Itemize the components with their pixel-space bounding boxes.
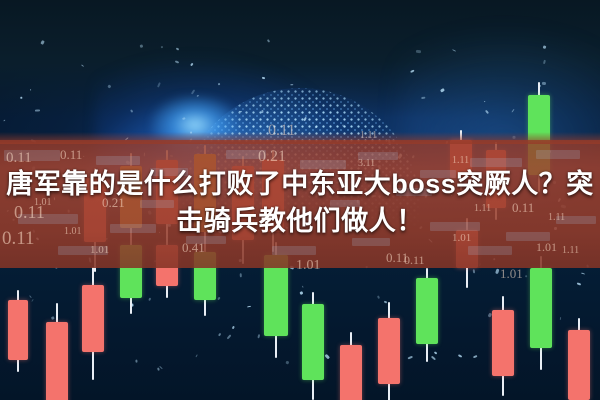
particle bbox=[290, 84, 293, 85]
ticker-bar bbox=[96, 156, 140, 165]
candlestick-body bbox=[378, 318, 400, 384]
candlestick bbox=[302, 292, 324, 400]
particle bbox=[135, 360, 137, 363]
ticker-bar bbox=[358, 152, 398, 160]
candlestick bbox=[416, 268, 438, 362]
particle bbox=[239, 110, 242, 112]
candlestick bbox=[492, 296, 514, 396]
particle bbox=[35, 109, 40, 111]
candlestick-body bbox=[568, 330, 590, 400]
particle bbox=[257, 334, 260, 338]
headline-line-2: 击骑兵教他们做人！ bbox=[0, 203, 600, 240]
particle bbox=[559, 317, 560, 320]
candlestick-body bbox=[416, 278, 438, 344]
ticker-bar bbox=[536, 150, 580, 159]
candlestick bbox=[46, 303, 68, 400]
candlestick-body bbox=[8, 300, 28, 360]
ticker-bar bbox=[4, 150, 60, 161]
candlestick-body bbox=[302, 304, 324, 380]
particle bbox=[240, 273, 242, 277]
candlestick-body bbox=[492, 310, 514, 376]
candlestick-body bbox=[46, 322, 68, 400]
candlestick-body bbox=[340, 345, 362, 400]
particle bbox=[262, 110, 264, 113]
candlestick bbox=[568, 318, 590, 400]
ticker-bar bbox=[58, 246, 108, 255]
candlestick bbox=[82, 267, 104, 380]
particle bbox=[20, 97, 22, 99]
candlestick bbox=[378, 302, 400, 400]
ticker-bar bbox=[468, 246, 512, 255]
candlestick-body bbox=[530, 268, 552, 348]
candlestick bbox=[8, 290, 28, 372]
candlestick bbox=[530, 256, 552, 370]
cover-image: 0.110.111.010.110.111.011.010.210.413.11… bbox=[0, 0, 600, 400]
ticker-bar bbox=[226, 150, 266, 159]
headline: 唐军靠的是什么打败了中东亚大boss突厥人？突 击骑兵教他们做人！ bbox=[0, 166, 600, 240]
candlestick-body bbox=[82, 285, 104, 352]
candlestick bbox=[340, 332, 362, 400]
ticker-bar bbox=[272, 246, 316, 255]
headline-line-1: 唐军靠的是什么打败了中东亚大boss突厥人？突 bbox=[0, 166, 600, 203]
particle bbox=[525, 275, 527, 277]
